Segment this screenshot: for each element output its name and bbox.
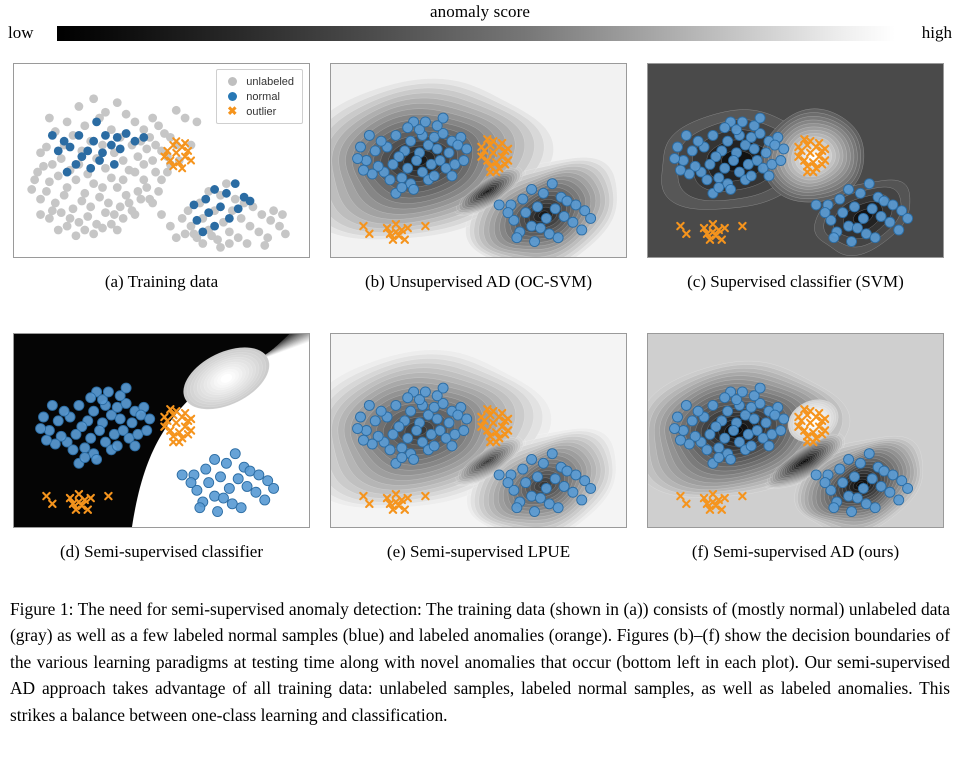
panel-c-supervised-classifier bbox=[647, 63, 944, 258]
panel-b-plot bbox=[331, 64, 626, 257]
legend-label-normal: normal bbox=[246, 90, 280, 104]
panel-a-training-data: unlabeled normal ✖ outlier bbox=[13, 63, 310, 258]
legend-label-outlier: outlier bbox=[246, 105, 276, 119]
colorbar-high-label: high bbox=[922, 23, 952, 43]
panel-d-caption: (d) Semi-supervised classifier bbox=[13, 542, 310, 562]
colorbar-gradient bbox=[57, 26, 895, 41]
normal-marker-icon bbox=[223, 90, 241, 104]
colorbar-low-label: low bbox=[8, 23, 34, 43]
figure-caption: Figure 1: The need for semi-supervised a… bbox=[10, 596, 950, 728]
panel-d-plot bbox=[14, 334, 309, 527]
panel-c-plot bbox=[648, 64, 943, 257]
panel-e-plot bbox=[331, 334, 626, 527]
legend-item-outlier: ✖ outlier bbox=[223, 104, 294, 119]
legend-item-normal: normal bbox=[223, 89, 294, 104]
panel-f-semi-supervised-ad bbox=[647, 333, 944, 528]
outlier-marker-icon: ✖ bbox=[223, 105, 241, 119]
panel-e-caption: (e) Semi-supervised LPUE bbox=[330, 542, 627, 562]
unlabeled-marker-icon bbox=[223, 75, 241, 89]
panel-d-semi-supervised-classifier bbox=[13, 333, 310, 528]
anomaly-score-colorbar: anomaly score low high bbox=[0, 0, 960, 52]
panel-e-semi-supervised-lpue bbox=[330, 333, 627, 528]
panel-f-plot bbox=[648, 334, 943, 527]
panel-b-caption: (b) Unsupervised AD (OC-SVM) bbox=[330, 272, 627, 292]
panel-a-caption: (a) Training data bbox=[13, 272, 310, 292]
colorbar-title: anomaly score bbox=[0, 2, 960, 22]
legend-item-unlabeled: unlabeled bbox=[223, 74, 294, 89]
panel-b-unsupervised-ad bbox=[330, 63, 627, 258]
panel-f-caption: (f) Semi-supervised AD (ours) bbox=[647, 542, 944, 562]
scatter-legend: unlabeled normal ✖ outlier bbox=[216, 69, 303, 124]
legend-label-unlabeled: unlabeled bbox=[246, 75, 294, 89]
panel-c-caption: (c) Supervised classifier (SVM) bbox=[647, 272, 944, 292]
